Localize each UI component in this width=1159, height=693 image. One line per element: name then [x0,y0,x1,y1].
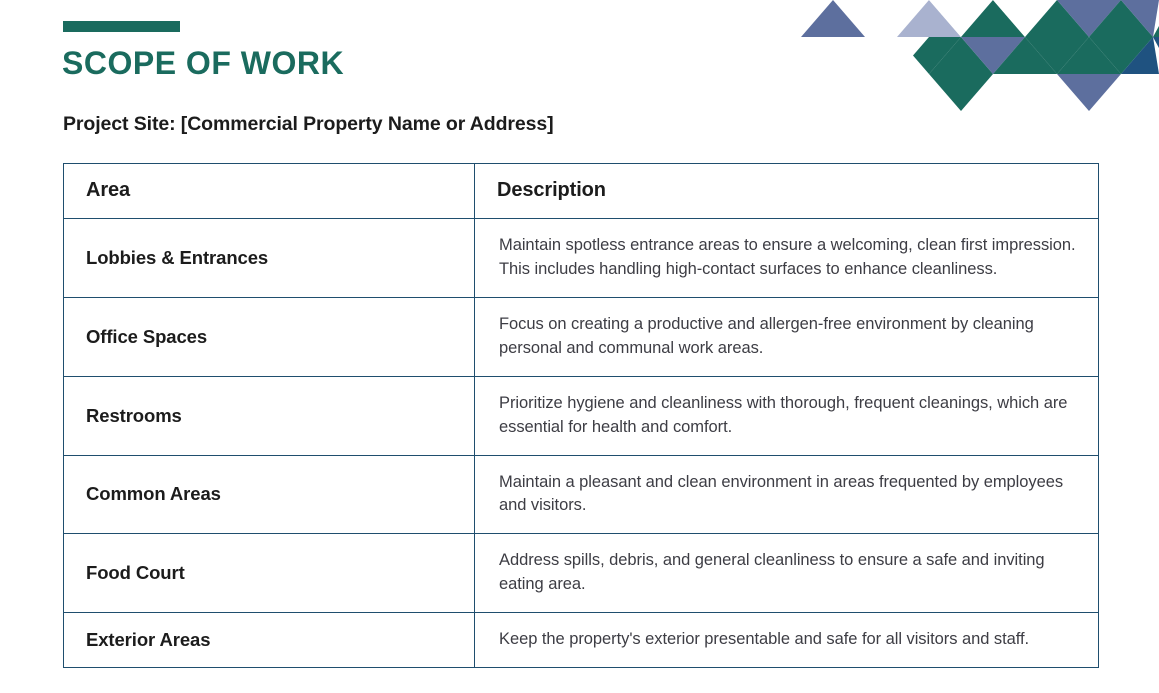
row-area-name: Food Court [64,534,475,613]
page-title: SCOPE OF WORK [62,45,344,82]
row-area-name: Common Areas [64,455,475,534]
column-header-description: Description [475,164,1099,219]
row-description: Maintain a pleasant and clean environmen… [475,455,1099,534]
scope-of-work-table: Area Description Lobbies & Entrances Mai… [63,163,1099,668]
table-body: Lobbies & Entrances Maintain spotless en… [64,219,1099,668]
title-accent-bar [63,21,180,32]
row-description: Address spills, debris, and general clea… [475,534,1099,613]
table-row: Exterior Areas Keep the property's exter… [64,613,1099,668]
table-row: Common Areas Maintain a pleasant and cle… [64,455,1099,534]
table-row: Lobbies & Entrances Maintain spotless en… [64,219,1099,298]
row-area-name: Office Spaces [64,297,475,376]
table-row: Restrooms Prioritize hygiene and cleanli… [64,376,1099,455]
row-description: Maintain spotless entrance areas to ensu… [475,219,1099,298]
table-header-row: Area Description [64,164,1099,219]
row-description: Focus on creating a productive and aller… [475,297,1099,376]
row-description: Prioritize hygiene and cleanliness with … [475,376,1099,455]
project-site-label: Project Site: [Commercial Property Name … [63,113,554,136]
table-row: Office Spaces Focus on creating a produc… [64,297,1099,376]
row-area-name: Exterior Areas [64,613,475,668]
column-header-area: Area [64,164,475,219]
triangle-mosaic-decoration [780,0,1159,115]
table-row: Food Court Address spills, debris, and g… [64,534,1099,613]
row-description: Keep the property's exterior presentable… [475,613,1099,668]
table-header: Area Description [64,164,1099,219]
row-area-name: Restrooms [64,376,475,455]
row-area-name: Lobbies & Entrances [64,219,475,298]
